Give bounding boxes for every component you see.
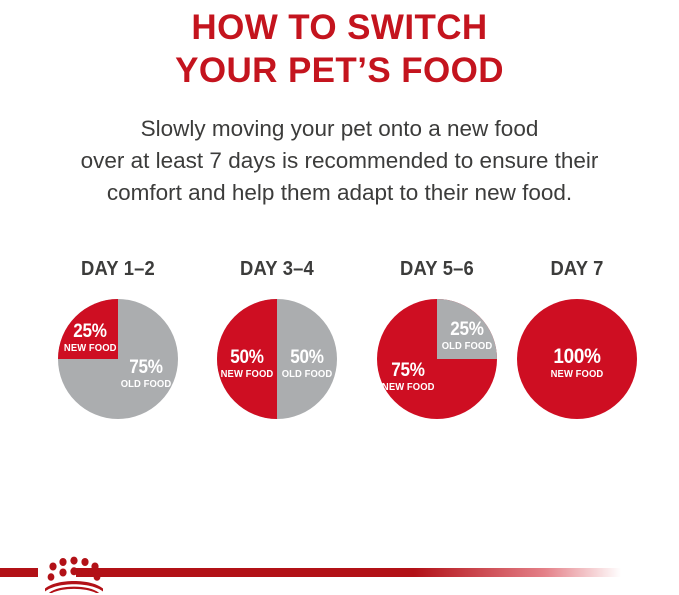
body-line-1: Slowly moving your pet onto a new food <box>0 113 679 145</box>
pie-chart-day-1-2: DAY 1–2 25% NEW FOOD 75% OLD FOOD <box>38 258 198 420</box>
pie-slice-new-food-1 <box>58 299 118 359</box>
body-line-3: comfort and help them adapt to their new… <box>0 177 679 209</box>
infographic-root: HOW TO SWITCH YOUR PET’S FOOD Slowly mov… <box>0 0 679 595</box>
pie-graphic-4: 100% NEW FOOD <box>516 298 638 420</box>
pie-svg-1 <box>57 298 179 420</box>
pie-graphic-2: 50% NEW FOOD 50% OLD FOOD <box>216 298 338 420</box>
day-label-1: DAY 1–2 <box>44 258 191 280</box>
pie-chart-day-7: DAY 7 100% NEW FOOD <box>497 258 657 420</box>
title-line-2: YOUR PET’S FOOD <box>0 49 679 92</box>
pie-svg-2 <box>216 298 338 420</box>
pie-svg-3 <box>376 298 498 420</box>
pie-slice-new-food-2 <box>217 299 277 419</box>
body-line-2: over at least 7 days is recommended to e… <box>0 145 679 177</box>
day-label-2: DAY 3–4 <box>203 258 350 280</box>
footer-rule-left <box>0 568 38 577</box>
pie-graphic-1: 25% NEW FOOD 75% OLD FOOD <box>57 298 179 420</box>
pie-chart-row: DAY 1–2 25% NEW FOOD 75% OLD FOOD DAY 3–… <box>0 258 679 438</box>
pie-chart-day-3-4: DAY 3–4 50% NEW FOOD 50% OLD FOOD <box>197 258 357 420</box>
pie-graphic-3: 25% OLD FOOD 75% NEW FOOD <box>376 298 498 420</box>
page-title: HOW TO SWITCH YOUR PET’S FOOD <box>0 6 679 92</box>
pie-svg-4 <box>516 298 638 420</box>
day-label-3: DAY 5–6 <box>363 258 510 280</box>
royal-canin-crown-icon <box>38 553 110 593</box>
footer <box>0 563 679 595</box>
pie-chart-day-5-6: DAY 5–6 25% OLD FOOD 75% NEW FOOD <box>357 258 517 420</box>
day-label-4: DAY 7 <box>503 258 650 280</box>
pie-slice-new-food-4 <box>517 299 637 419</box>
footer-rule-right <box>76 568 621 577</box>
title-line-1: HOW TO SWITCH <box>0 6 679 49</box>
pie-slice-old-food-3 <box>437 299 497 359</box>
body-copy: Slowly moving your pet onto a new food o… <box>0 113 679 209</box>
